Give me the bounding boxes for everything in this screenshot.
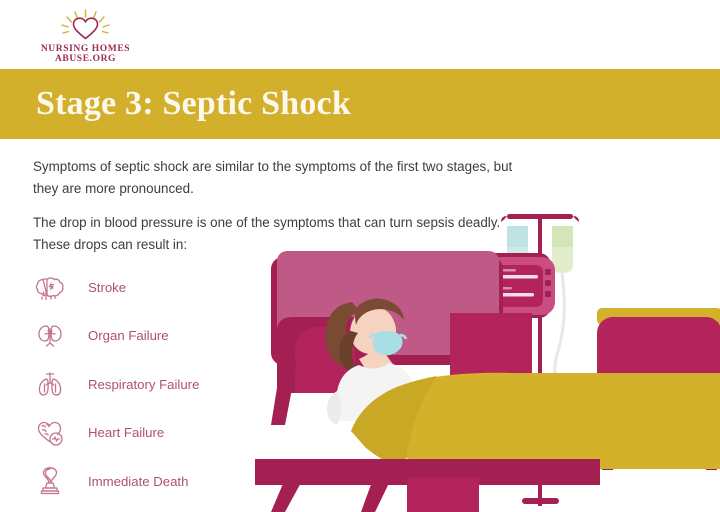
- lungs-icon: [28, 364, 72, 404]
- outcomes-list: Stroke Organ Failure: [28, 263, 278, 506]
- list-item-label: Respiratory Failure: [88, 377, 199, 392]
- heart-monitor-icon: [28, 413, 72, 453]
- list-item: Respiratory Failure: [28, 360, 278, 409]
- list-item-label: Heart Failure: [88, 425, 164, 440]
- page-title: Stage 3: Septic Shock: [36, 85, 351, 123]
- intro-paragraph: Symptoms of septic shock are similar to …: [33, 156, 523, 200]
- memorial-ribbon-icon: [28, 461, 72, 501]
- list-item: Immediate Death: [28, 457, 278, 506]
- list-item-label: Stroke: [88, 280, 126, 295]
- heart-sunburst-icon: [28, 8, 143, 46]
- list-item: Stroke: [28, 263, 278, 312]
- list-item-label: Organ Failure: [88, 328, 169, 343]
- kidneys-icon: [28, 316, 72, 356]
- iv-bag-right: [552, 226, 573, 391]
- brand-name-line-2: ABUSE.ORG: [28, 54, 143, 65]
- brain-lightning-icon: [28, 267, 72, 307]
- infographic-page: NURSING HOMES ABUSE.ORG Stage 3: Septic …: [0, 0, 720, 512]
- title-banner: Stage 3: Septic Shock: [0, 69, 720, 139]
- list-item: Organ Failure: [28, 312, 278, 361]
- brand-name-line-1: NURSING HOMES: [28, 44, 143, 54]
- list-item-label: Immediate Death: [88, 474, 188, 489]
- list-item: Heart Failure: [28, 409, 278, 458]
- brand-logo: NURSING HOMES ABUSE.ORG: [28, 8, 143, 68]
- patient-in-hospital-bed-illustration: [255, 195, 720, 512]
- blanket: [351, 373, 720, 470]
